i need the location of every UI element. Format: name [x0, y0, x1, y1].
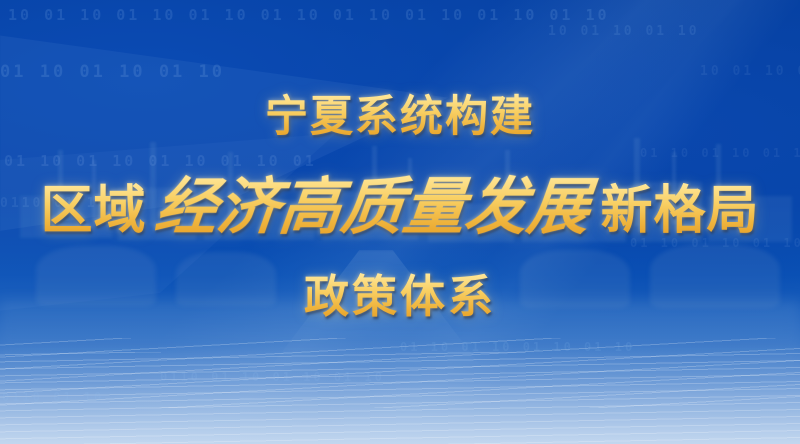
headline-block: 宁夏系统构建 区域 经济高质量发展 新格局 政策体系: [0, 0, 800, 444]
headline-line-3-text: 政策体系: [304, 260, 496, 325]
headline-line-2: 区域 经济高质量发展 新格局: [40, 156, 759, 246]
headline-line-1: 宁夏系统构建: [265, 82, 535, 144]
headline-line-3: 政策体系: [304, 246, 496, 325]
headline-line-2-suffix: 新格局: [601, 168, 760, 243]
headline-line-2-prefix: 区域: [40, 168, 146, 243]
promotional-banner: 10 01 10 01 10 01 10 01 10 01 10 01 10 0…: [0, 0, 800, 444]
headline-line-1-text: 宁夏系统构建: [265, 82, 535, 144]
headline-line-2-emphasis: 经济高质量发展: [142, 156, 605, 246]
